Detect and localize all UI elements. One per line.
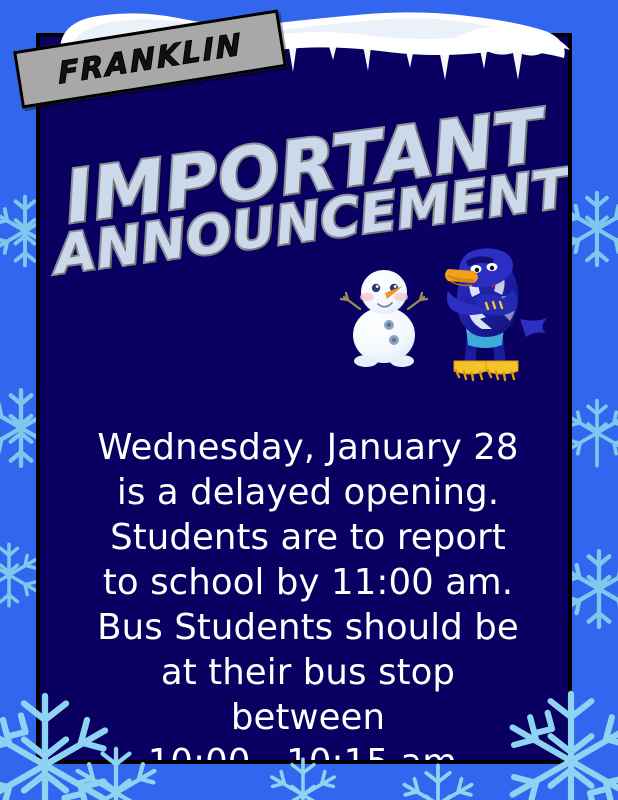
body-line: between bbox=[58, 695, 558, 740]
blue-bird-mascot-icon bbox=[445, 248, 548, 380]
headline-line-1: IMPORTANT bbox=[36, 99, 572, 235]
body-line: 10:00 - 10:15 am. bbox=[58, 740, 558, 764]
announcement-body: Wednesday, January 28 is a delayed openi… bbox=[58, 425, 558, 764]
body-line: at their bus stop bbox=[58, 650, 558, 695]
snowman-and-bird-graphic bbox=[334, 247, 554, 382]
body-line: Students are to report bbox=[58, 515, 558, 560]
body-line: is a delayed opening. bbox=[58, 470, 558, 515]
announcement-panel: IMPORTANT ANNOUNCEMENT bbox=[36, 33, 572, 764]
mascot-illustrations bbox=[334, 247, 554, 382]
snowman-icon bbox=[341, 270, 427, 367]
body-line: Wednesday, January 28 bbox=[58, 425, 558, 470]
announcement-poster: IMPORTANT ANNOUNCEMENT bbox=[0, 0, 618, 800]
snowflake-icon bbox=[396, 762, 480, 800]
body-line: to school by 11:00 am. bbox=[58, 560, 558, 605]
body-line: Bus Students should be bbox=[58, 605, 558, 650]
